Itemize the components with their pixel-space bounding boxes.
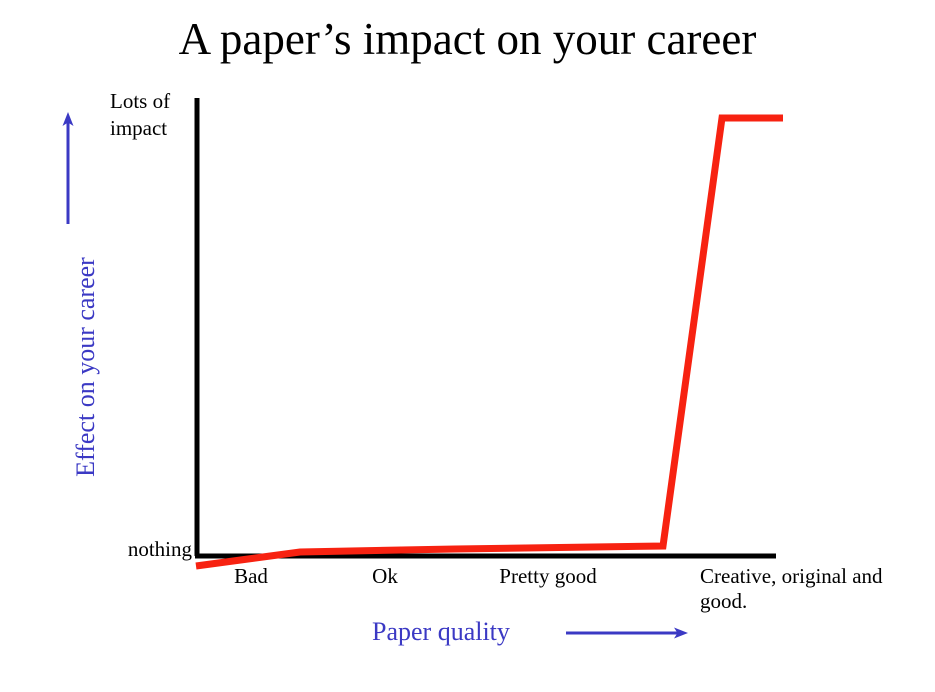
slide-canvas: A paper’s impact on your career Lots of <box>0 0 935 692</box>
up-arrow-icon <box>63 112 74 224</box>
x-tick-label-pretty-good: Pretty good <box>438 564 658 589</box>
y-axis-max-label-line2: impact <box>110 115 194 142</box>
y-axis-title: Effect on your career <box>71 217 101 517</box>
x-axis-title: Paper quality <box>372 616 510 648</box>
page-title: A paper’s impact on your career <box>0 13 935 65</box>
x-tick-label-creative-original-and-good: Creative, original and good. <box>700 564 930 614</box>
right-arrow-icon <box>566 628 688 639</box>
y-axis-max-label-line1: Lots of <box>110 88 194 115</box>
x-tick-label-bad: Bad <box>196 564 306 589</box>
impact-curve <box>196 118 783 566</box>
y-axis-min-label: nothing <box>60 537 192 562</box>
x-tick-label-ok: Ok <box>330 564 440 589</box>
y-axis-max-label: Lots of impact <box>110 88 194 142</box>
